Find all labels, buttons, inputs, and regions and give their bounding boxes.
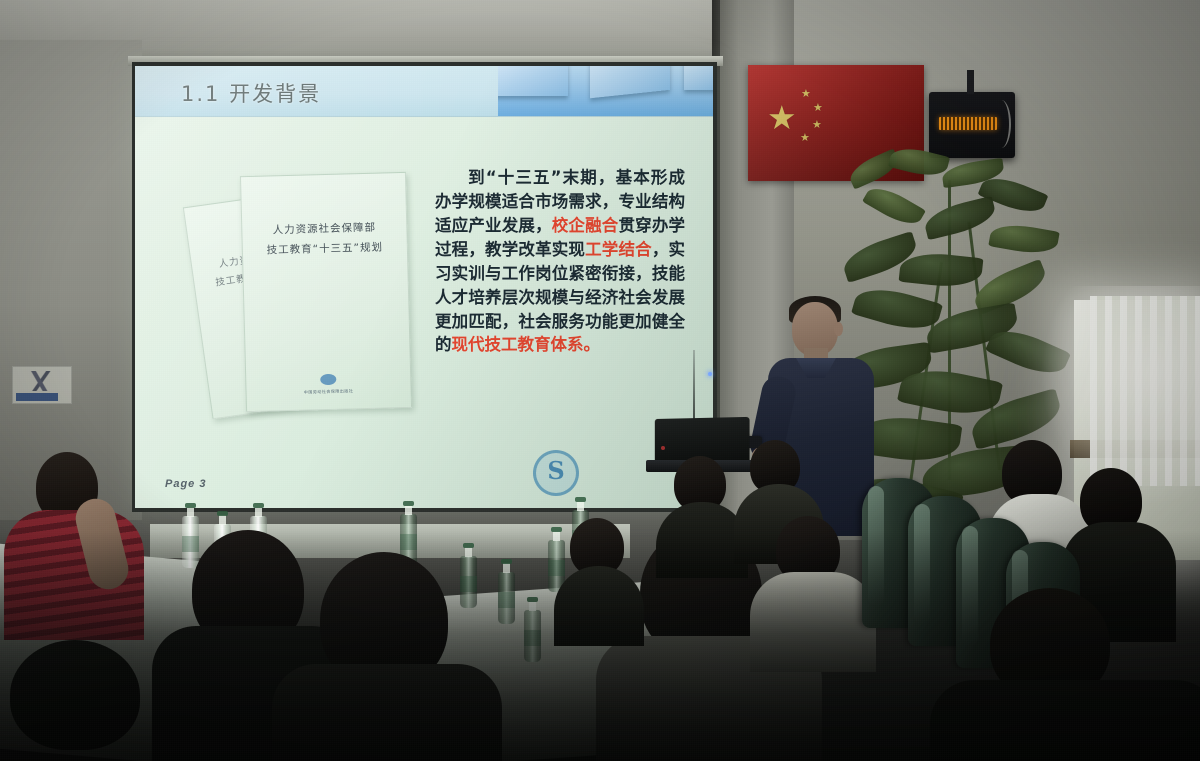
audience-head: [10, 640, 140, 750]
slide-header-decoration: [498, 66, 713, 116]
slide-page-number: Page 3: [165, 478, 206, 490]
plaque-label-bar: [16, 393, 58, 401]
device-bracket: [967, 70, 974, 94]
document-publisher: 中国劳动社会保障出版社: [247, 387, 411, 397]
microphone-led: [708, 372, 712, 376]
slide-paragraph: 到“十三五”末期，基本形成办学规模适合市场需求，专业结构适应产业发展，校企融合贯…: [435, 166, 685, 357]
slide-header-band: 1.1 开发背景: [135, 66, 713, 117]
deco-cube-3: [684, 66, 713, 90]
presentation-slide: 1.1 开发背景 人力资源社会保障部 技工教育“十三五”规划 人力资源社会保障部…: [135, 66, 713, 508]
audience-foreground-silhouette: [0, 640, 210, 761]
window-curtain: [1090, 296, 1200, 486]
deco-cube-1: [498, 66, 568, 96]
audience-body: [750, 572, 876, 672]
publisher-logo-icon: [320, 374, 336, 385]
document-front: 人力资源社会保障部 技工教育“十三五”规划 中国劳动社会保障出版社: [240, 172, 412, 412]
document-front-line1: 人力资源社会保障部: [242, 219, 406, 238]
audience-foreground-right: [930, 588, 1200, 761]
slide-document-images: 人力资源社会保障部 技工教育“十三五”规划 人力资源社会保障部 技工教育“十三五…: [197, 174, 427, 424]
audience-center-front: [298, 552, 494, 761]
audience-striped-shirt-left: [8, 452, 168, 632]
plaque-graphic: [17, 371, 65, 391]
device-led-strip: [939, 117, 997, 130]
presenter-ear: [834, 322, 843, 336]
laptop-power-led: [661, 446, 665, 450]
audience-row-4: [760, 516, 870, 666]
water-bottle: [524, 610, 541, 662]
document-front-line2: 技工教育“十三五”规划: [243, 239, 407, 258]
slide-watermark-logo: [533, 450, 579, 496]
projection-screen: 1.1 开发背景 人力资源社会保障部 技工教育“十三五”规划 人力资源社会保障部…: [132, 62, 717, 512]
audience-body: [272, 664, 502, 761]
audience-row-1: [556, 518, 646, 638]
audience-body: [930, 680, 1200, 761]
wall-mounted-led-display: [929, 92, 1015, 158]
paragraph-segment-3: 工学结合: [585, 240, 652, 259]
device-cable: [995, 100, 1011, 148]
paragraph-segment-5: 现代技工教育体系。: [452, 335, 601, 354]
slide-title: 1.1 开发背景: [181, 78, 321, 108]
conference-room-scene: ★ ★ ★ ★ ★: [0, 0, 1200, 761]
audience-body: [554, 566, 644, 646]
microphone-stand: [693, 350, 695, 426]
wall-left-panel: [0, 40, 142, 520]
water-bottle: [498, 572, 515, 624]
wall-sign-plaque: [12, 366, 72, 404]
paragraph-segment-1: 校企融合: [552, 216, 619, 235]
deco-cube-2: [590, 66, 670, 98]
